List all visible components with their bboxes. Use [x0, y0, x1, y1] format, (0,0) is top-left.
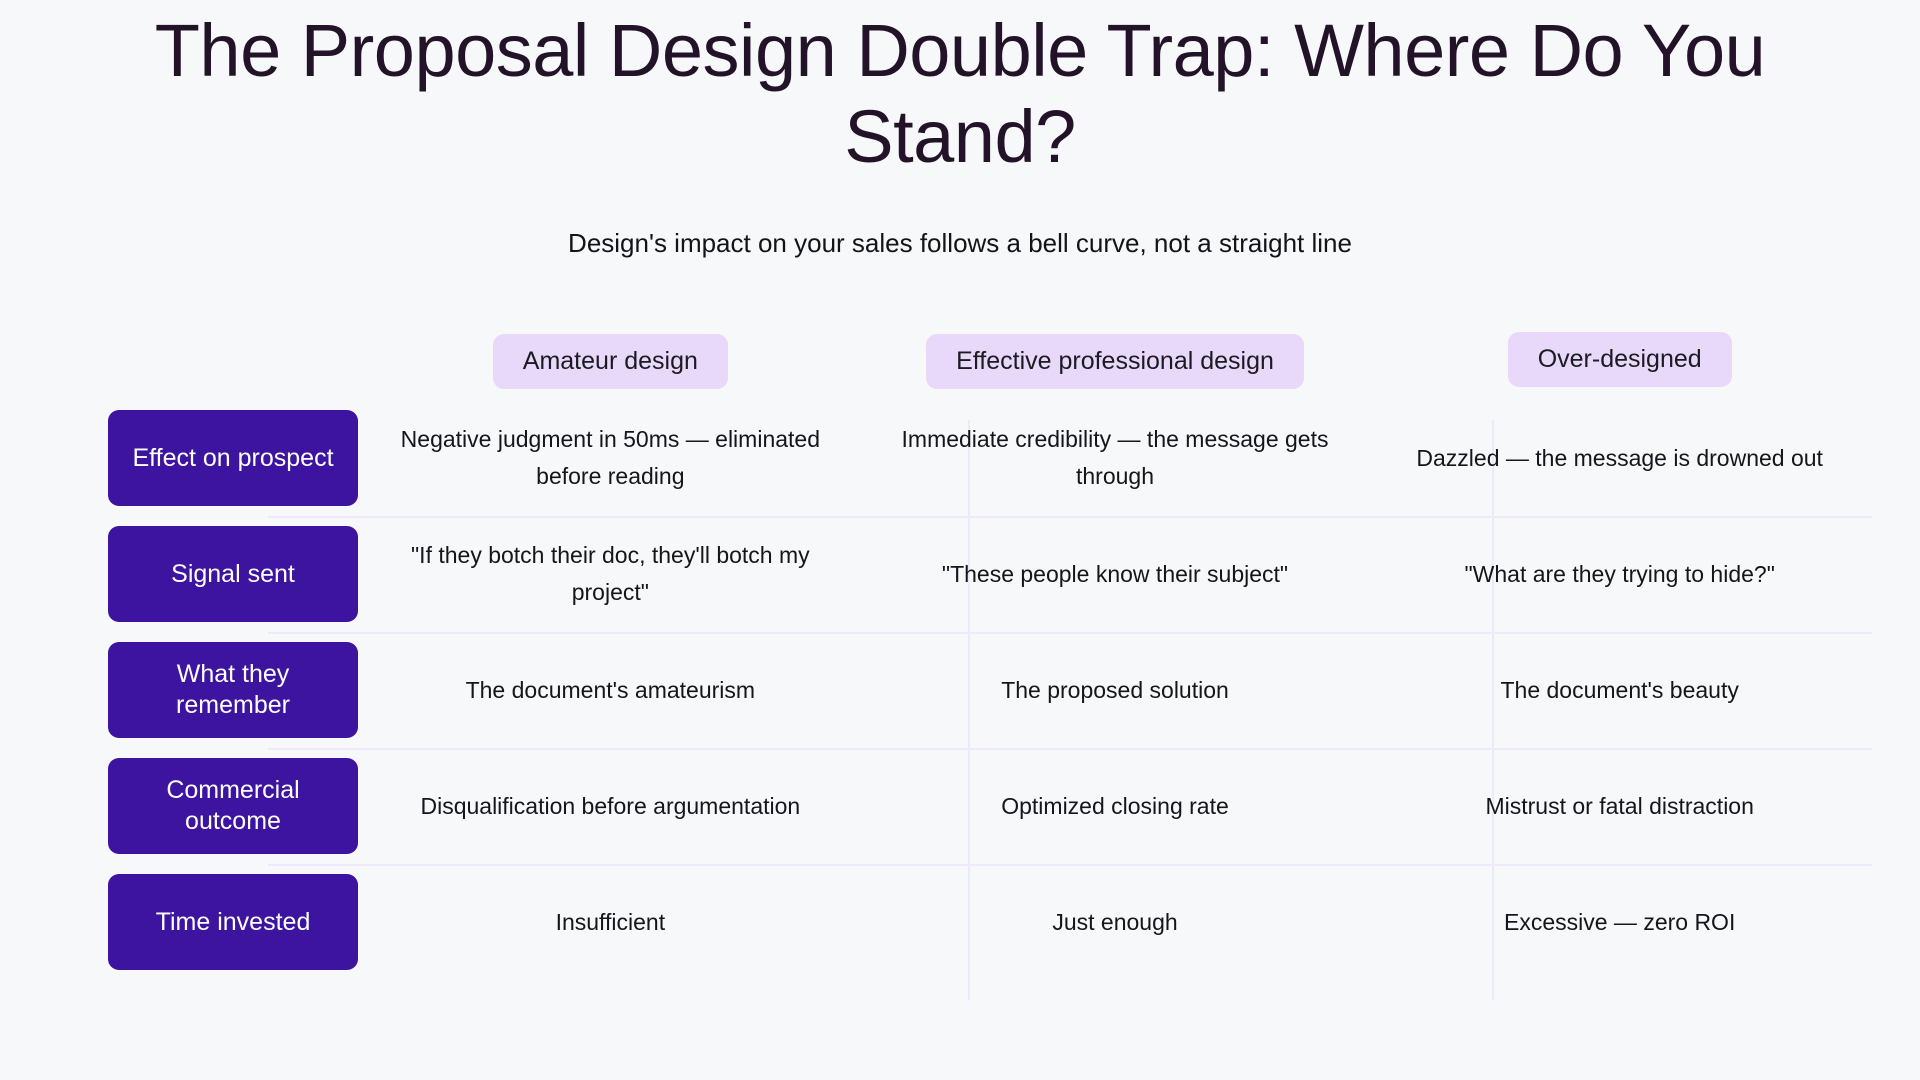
matrix-cell: "These people know their subject"	[863, 516, 1368, 632]
matrix-cell: Mistrust or fatal distraction	[1367, 748, 1872, 864]
matrix-cell-text: "What are they trying to hide?"	[1464, 556, 1774, 593]
matrix-cell: Just enough	[863, 864, 1368, 980]
row-label-chip: Time invested	[108, 874, 358, 970]
page-subtitle: Design's impact on your sales follows a …	[0, 180, 1920, 260]
matrix-cell: "If they botch their doc, they'll botch …	[358, 516, 863, 632]
page-header: The Proposal Design Double Trap: Where D…	[0, 0, 1920, 260]
table-row: What they remember The document's amateu…	[108, 632, 1872, 748]
table-row: Commercial outcome Disqualification befo…	[108, 748, 1872, 864]
matrix-cell: The document's amateurism	[358, 632, 863, 748]
matrix-cell: Disqualification before argumentation	[358, 748, 863, 864]
matrix-cell: "What are they trying to hide?"	[1367, 516, 1872, 632]
matrix-header-row: Amateur design Effective professional de…	[108, 334, 1872, 400]
matrix-cell-text: Excessive — zero ROI	[1504, 904, 1735, 941]
matrix-cell: The document's beauty	[1367, 632, 1872, 748]
matrix-cell: Negative judgment in 50ms — eliminated b…	[358, 400, 863, 516]
matrix-cell: Insufficient	[358, 864, 863, 980]
row-label-cell: Effect on prospect	[108, 400, 358, 516]
matrix-cell: Optimized closing rate	[863, 748, 1368, 864]
matrix-cell-text: Just enough	[1052, 904, 1177, 941]
page-title: The Proposal Design Double Trap: Where D…	[90, 2, 1830, 180]
matrix-cell-text: Disqualification before argumentation	[420, 788, 800, 825]
row-label-chip: What they remember	[108, 642, 358, 738]
row-label-chip: Effect on prospect	[108, 410, 358, 506]
column-header-effective-professional-design: Effective professional design	[863, 334, 1368, 400]
row-label-cell: Time invested	[108, 864, 358, 980]
matrix-cell-text: Optimized closing rate	[1001, 788, 1229, 825]
matrix-cell: Excessive — zero ROI	[1367, 864, 1872, 980]
page-root: The Proposal Design Double Trap: Where D…	[0, 0, 1920, 1080]
matrix-corner-spacer	[108, 334, 358, 400]
matrix-cell-text: "If they botch their doc, they'll botch …	[384, 537, 837, 611]
matrix-cell-text: The proposed solution	[1001, 672, 1229, 709]
matrix-cell-text: Insufficient	[556, 904, 666, 941]
matrix-cell-text: Mistrust or fatal distraction	[1485, 788, 1753, 825]
matrix-cell: The proposed solution	[863, 632, 1368, 748]
column-header-over-designed: Over-designed	[1367, 334, 1872, 400]
row-label-chip: Signal sent	[108, 526, 358, 622]
matrix-cell-text: Immediate credibility — the message gets…	[889, 421, 1342, 495]
matrix-cell-text: "These people know their subject"	[942, 556, 1288, 593]
matrix-cell: Dazzled — the message is drowned out	[1367, 400, 1872, 516]
matrix-cell-text: The document's amateurism	[466, 672, 755, 709]
row-label-cell: Signal sent	[108, 516, 358, 632]
row-label-chip: Commercial outcome	[108, 758, 358, 854]
table-row: Time invested Insufficient Just enough E…	[108, 864, 1872, 980]
matrix-cell-text: Negative judgment in 50ms — eliminated b…	[384, 421, 837, 495]
row-label-cell: Commercial outcome	[108, 748, 358, 864]
table-row: Effect on prospect Negative judgment in …	[108, 400, 1872, 516]
column-header-pill-label: Amateur design	[493, 334, 728, 389]
matrix-cell-text: Dazzled — the message is drowned out	[1416, 440, 1823, 477]
column-header-amateur-design: Amateur design	[358, 334, 863, 400]
row-label-cell: What they remember	[108, 632, 358, 748]
matrix-cell-text: The document's beauty	[1500, 672, 1738, 709]
column-header-pill-label: Over-designed	[1508, 332, 1732, 387]
matrix-cell: Immediate credibility — the message gets…	[863, 400, 1368, 516]
table-row: Signal sent "If they botch their doc, th…	[108, 516, 1872, 632]
comparison-matrix: Amateur design Effective professional de…	[108, 334, 1872, 980]
column-header-pill-label: Effective professional design	[926, 334, 1304, 389]
